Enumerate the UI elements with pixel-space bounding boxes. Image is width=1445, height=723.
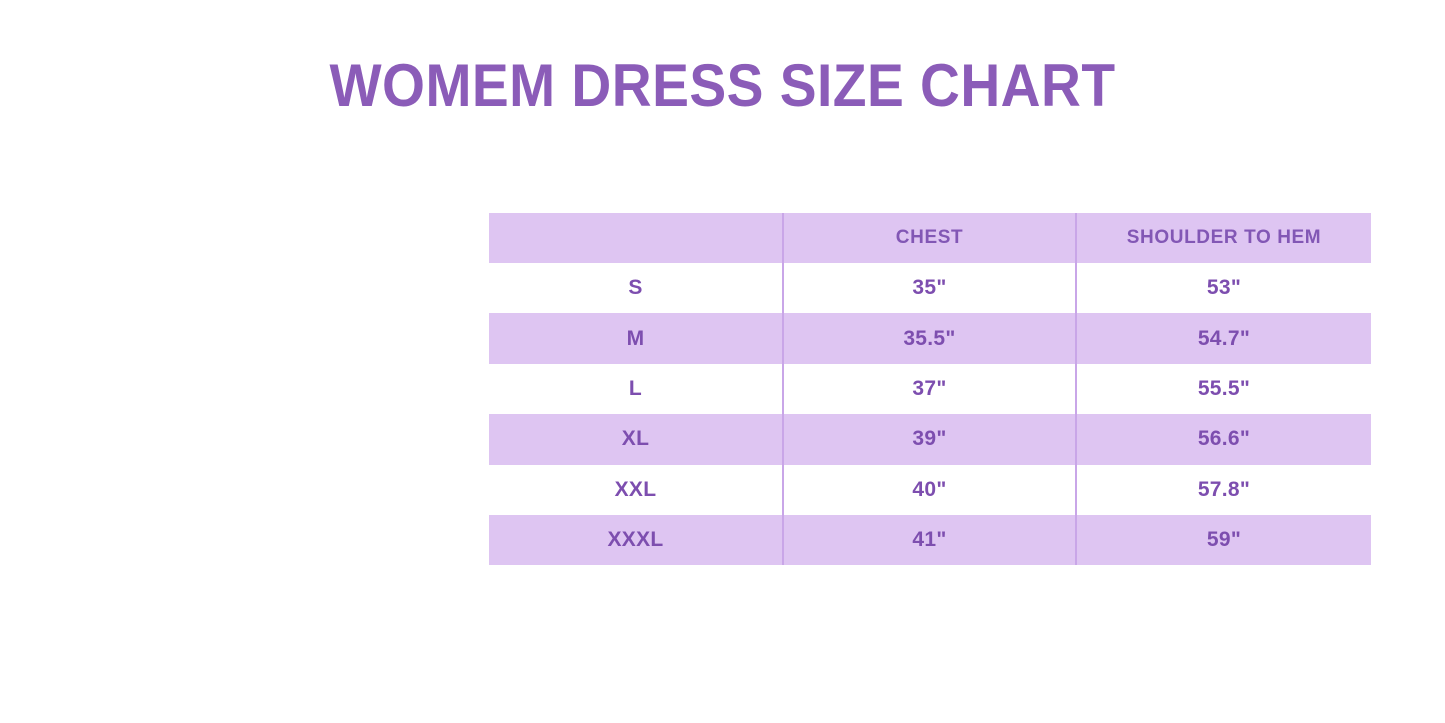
- size-chart-table: CHEST SHOULDER TO HEM S 35" 53" M 35.5" …: [489, 213, 1371, 565]
- column-header-chest: CHEST: [783, 213, 1076, 263]
- cell-shoulder-to-hem: 53": [1076, 263, 1371, 313]
- table-row: M 35.5" 54.7": [489, 313, 1371, 363]
- cell-size: M: [489, 313, 783, 363]
- size-chart-table-container: CHEST SHOULDER TO HEM S 35" 53" M 35.5" …: [489, 213, 1371, 565]
- cell-chest: 37": [783, 364, 1076, 414]
- cell-shoulder-to-hem: 57.8": [1076, 465, 1371, 515]
- cell-size: L: [489, 364, 783, 414]
- table-row: XXL 40" 57.8": [489, 465, 1371, 515]
- table-row: L 37" 55.5": [489, 364, 1371, 414]
- cell-shoulder-to-hem: 54.7": [1076, 313, 1371, 363]
- cell-chest: 35": [783, 263, 1076, 313]
- cell-chest: 40": [783, 465, 1076, 515]
- cell-shoulder-to-hem: 56.6": [1076, 414, 1371, 464]
- table-head: CHEST SHOULDER TO HEM: [489, 213, 1371, 263]
- cell-size: XL: [489, 414, 783, 464]
- table-body: S 35" 53" M 35.5" 54.7" L 37" 55.5" XL 3…: [489, 263, 1371, 565]
- page-title: WOMEM DRESS SIZE CHART: [58, 53, 1387, 119]
- table-header-row: CHEST SHOULDER TO HEM: [489, 213, 1371, 263]
- cell-chest: 41": [783, 515, 1076, 565]
- cell-shoulder-to-hem: 59": [1076, 515, 1371, 565]
- cell-chest: 35.5": [783, 313, 1076, 363]
- table-row: XL 39" 56.6": [489, 414, 1371, 464]
- cell-size: XXXL: [489, 515, 783, 565]
- size-chart-page: WOMEM DRESS SIZE CHART CHEST SHOULDER TO…: [0, 0, 1445, 723]
- table-row: XXXL 41" 59": [489, 515, 1371, 565]
- cell-shoulder-to-hem: 55.5": [1076, 364, 1371, 414]
- column-header-shoulder-to-hem: SHOULDER TO HEM: [1076, 213, 1371, 263]
- cell-size: S: [489, 263, 783, 313]
- cell-size: XXL: [489, 465, 783, 515]
- table-row: S 35" 53": [489, 263, 1371, 313]
- column-header-size: [489, 213, 783, 263]
- cell-chest: 39": [783, 414, 1076, 464]
